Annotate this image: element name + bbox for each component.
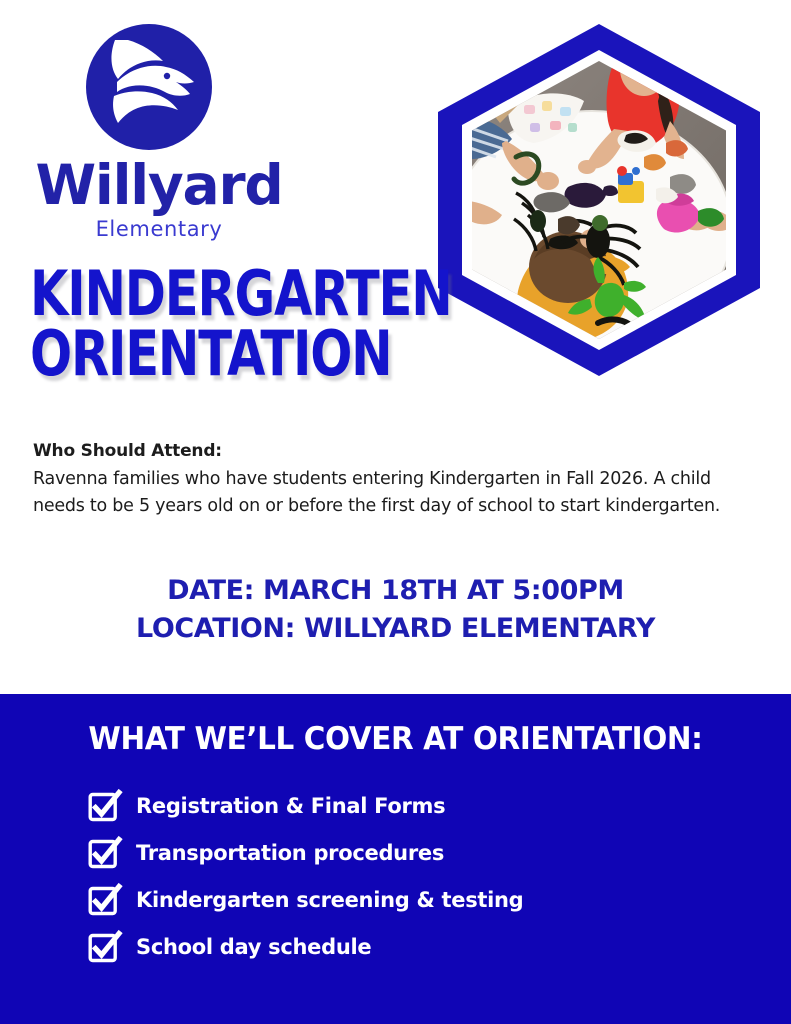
checkbox-checked-icon — [88, 790, 120, 822]
list-item: Transportation procedures — [88, 829, 748, 876]
logo-wordmark: Willyard — [34, 156, 284, 214]
hexagon-photo-frame — [438, 24, 760, 376]
checklist-item-label: Transportation procedures — [136, 841, 444, 865]
coverage-band-title: WHAT WE’LL COVER AT ORIENTATION: — [20, 720, 771, 758]
list-item: School day schedule — [88, 923, 748, 970]
logo-subtitle: Elementary — [34, 218, 284, 241]
bird-head-in-circle-icon — [84, 22, 214, 152]
coverage-band: WHAT WE’LL COVER AT ORIENTATION: Registr… — [0, 694, 791, 1024]
page-title-line-2: ORIENTATION — [30, 324, 366, 384]
who-should-attend-body: Ravenna families who have students enter… — [33, 466, 733, 520]
event-location: LOCATION: WILLYARD ELEMENTARY — [0, 610, 791, 648]
coverage-checklist: Registration & Final Forms Transportatio… — [88, 782, 748, 970]
checklist-item-label: School day schedule — [136, 935, 371, 959]
list-item: Registration & Final Forms — [88, 782, 748, 829]
checklist-item-label: Kindergarten screening & testing — [136, 888, 523, 912]
who-should-attend-label: Who Should Attend: — [33, 440, 222, 462]
checkbox-checked-icon — [88, 837, 120, 869]
checklist-item-label: Registration & Final Forms — [136, 794, 445, 818]
page-title: KINDERGARTEN ORIENTATION — [30, 264, 450, 384]
page-title-line-1: KINDERGARTEN — [30, 264, 366, 324]
school-logo: Willyard Elementary — [34, 22, 284, 232]
event-date: DATE: MARCH 18TH AT 5:00PM — [0, 572, 791, 610]
event-details: DATE: MARCH 18TH AT 5:00PM LOCATION: WIL… — [0, 572, 791, 648]
flyer-page: Willyard Elementary — [0, 0, 791, 1024]
list-item: Kindergarten screening & testing — [88, 876, 748, 923]
checkbox-checked-icon — [88, 884, 120, 916]
checkbox-checked-icon — [88, 931, 120, 963]
